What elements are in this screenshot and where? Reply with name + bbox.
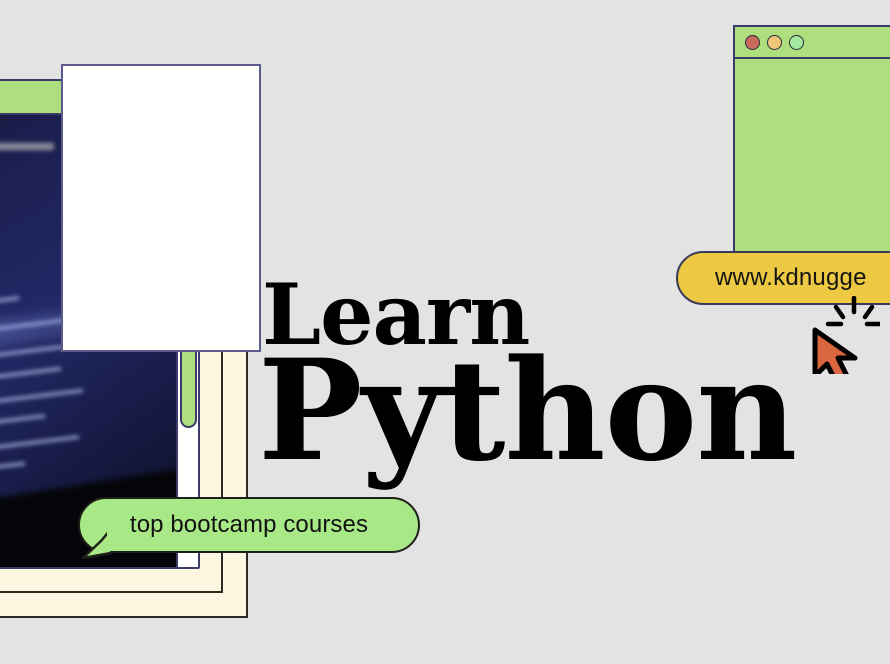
- browser-titlebar: [735, 27, 890, 59]
- speech-bubble-label: top bootcamp courses: [130, 511, 368, 539]
- close-dot-icon[interactable]: [745, 35, 760, 50]
- speech-bubble[interactable]: top bootcamp courses: [78, 497, 420, 553]
- maximize-dot-icon[interactable]: [789, 35, 804, 50]
- speech-bubble-tail-icon: [81, 529, 115, 559]
- browser-window: [733, 25, 890, 275]
- terminal-prompt-command: [0, 143, 54, 150]
- poster-canvas: Learn Python top bootcamp courses www.kd…: [0, 0, 890, 664]
- browser-content-area: [61, 64, 261, 352]
- minimize-dot-icon[interactable]: [767, 35, 782, 50]
- click-cursor-icon: [802, 296, 880, 374]
- page-title: Learn Python: [262, 276, 796, 475]
- headline-line-python: Python: [258, 347, 796, 475]
- url-text: www.kdnugge: [715, 264, 867, 292]
